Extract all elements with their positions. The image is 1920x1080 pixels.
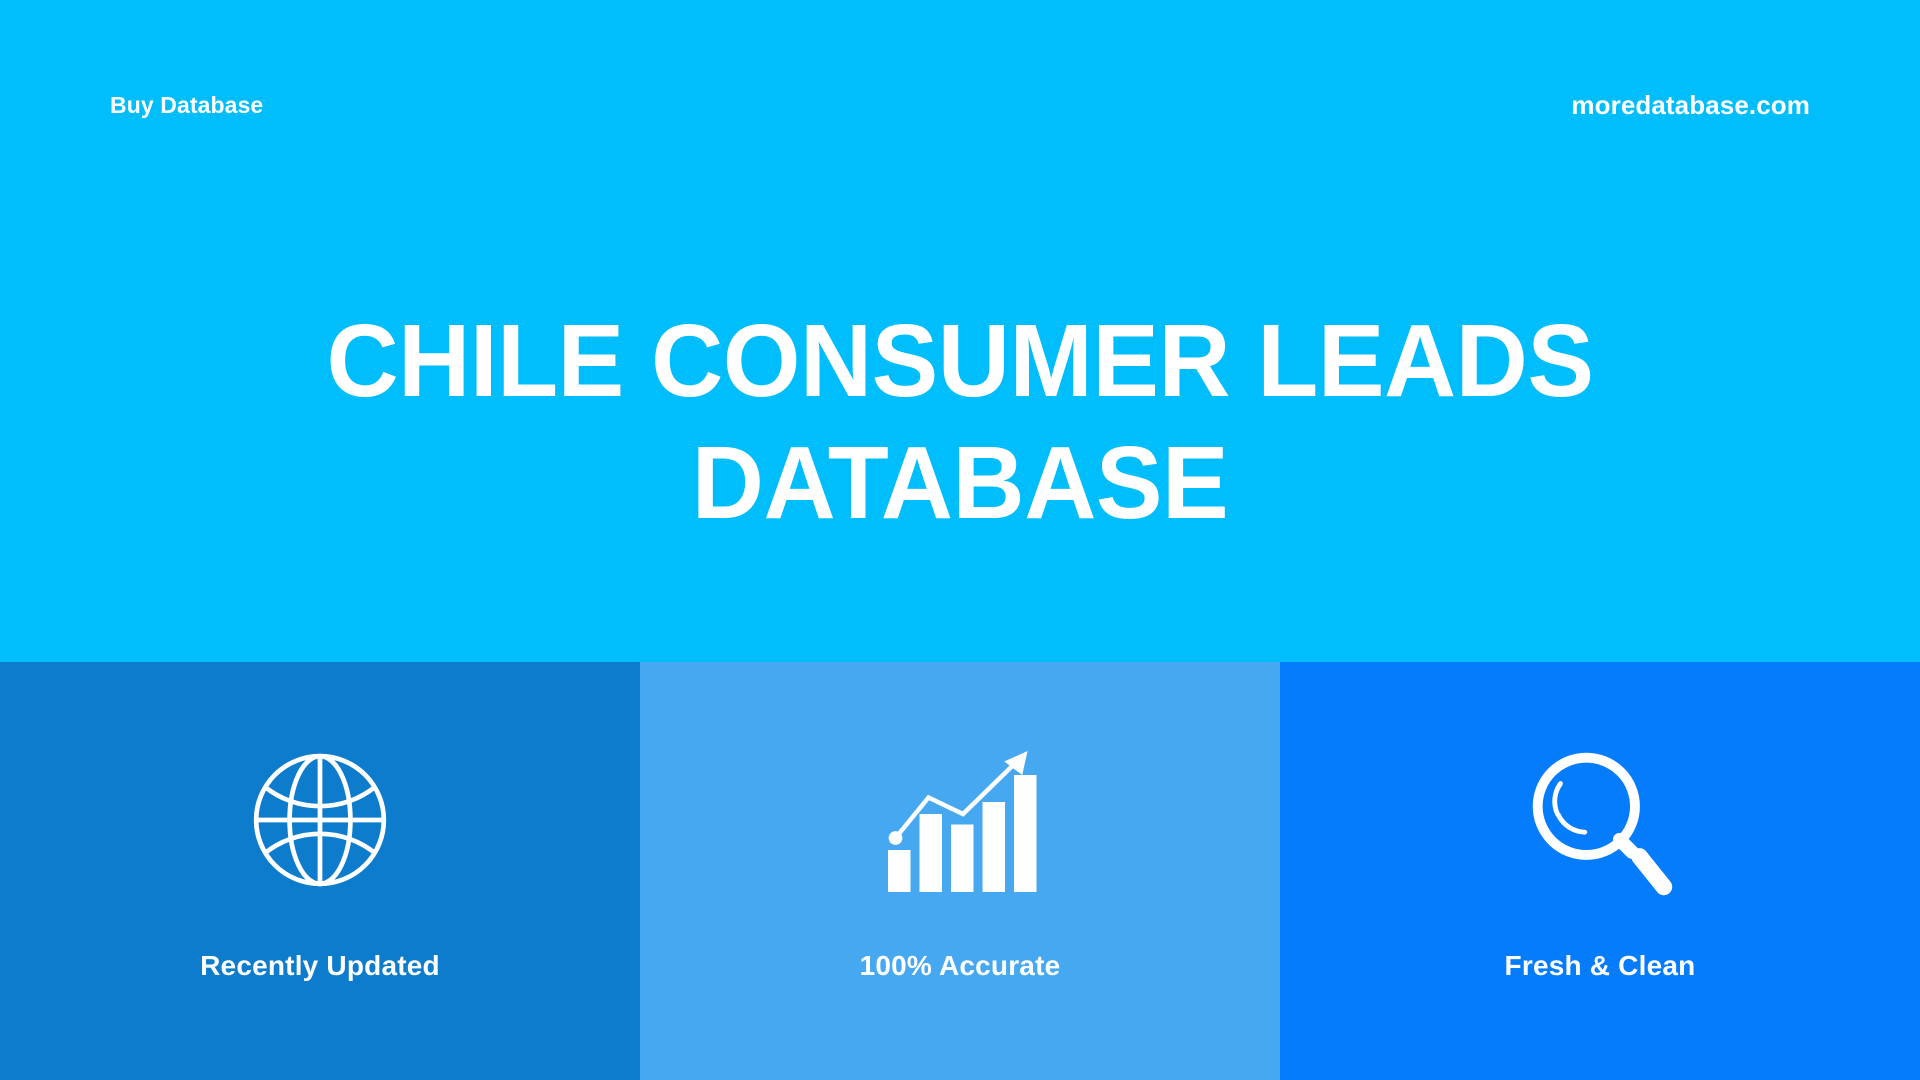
promo-banner: Buy Database moredatabase.com CHILE CONS… xyxy=(0,0,1920,1080)
feature-panel-label: 100% Accurate xyxy=(860,950,1061,982)
feature-panel-label: Recently Updated xyxy=(200,950,440,982)
website-url-label: moredatabase.com xyxy=(1571,90,1810,121)
magnifying-glass-icon xyxy=(1520,740,1680,900)
page-title: CHILE CONSUMER LEADS DATABASE xyxy=(29,300,1891,543)
globe-icon xyxy=(240,740,400,900)
brand-name-label: Buy Database xyxy=(110,92,263,119)
page-title-line-2: DATABASE xyxy=(145,422,1775,544)
hero-section: Buy Database moredatabase.com CHILE CONS… xyxy=(0,0,1920,662)
hero-top-bar: Buy Database moredatabase.com xyxy=(0,0,1920,210)
feature-panel-label: Fresh & Clean xyxy=(1505,950,1696,982)
feature-panel-fresh-and-clean: Fresh & Clean xyxy=(1280,662,1920,1080)
feature-panel-100-percent-accurate: 100% Accurate xyxy=(640,662,1280,1080)
feature-panel-recently-updated: Recently Updated xyxy=(0,662,640,1080)
feature-panels: Recently Updated 100% Accurate xyxy=(0,662,1920,1080)
growth-bar-chart-icon xyxy=(880,740,1040,900)
page-title-line-1: CHILE CONSUMER LEADS xyxy=(145,300,1775,422)
